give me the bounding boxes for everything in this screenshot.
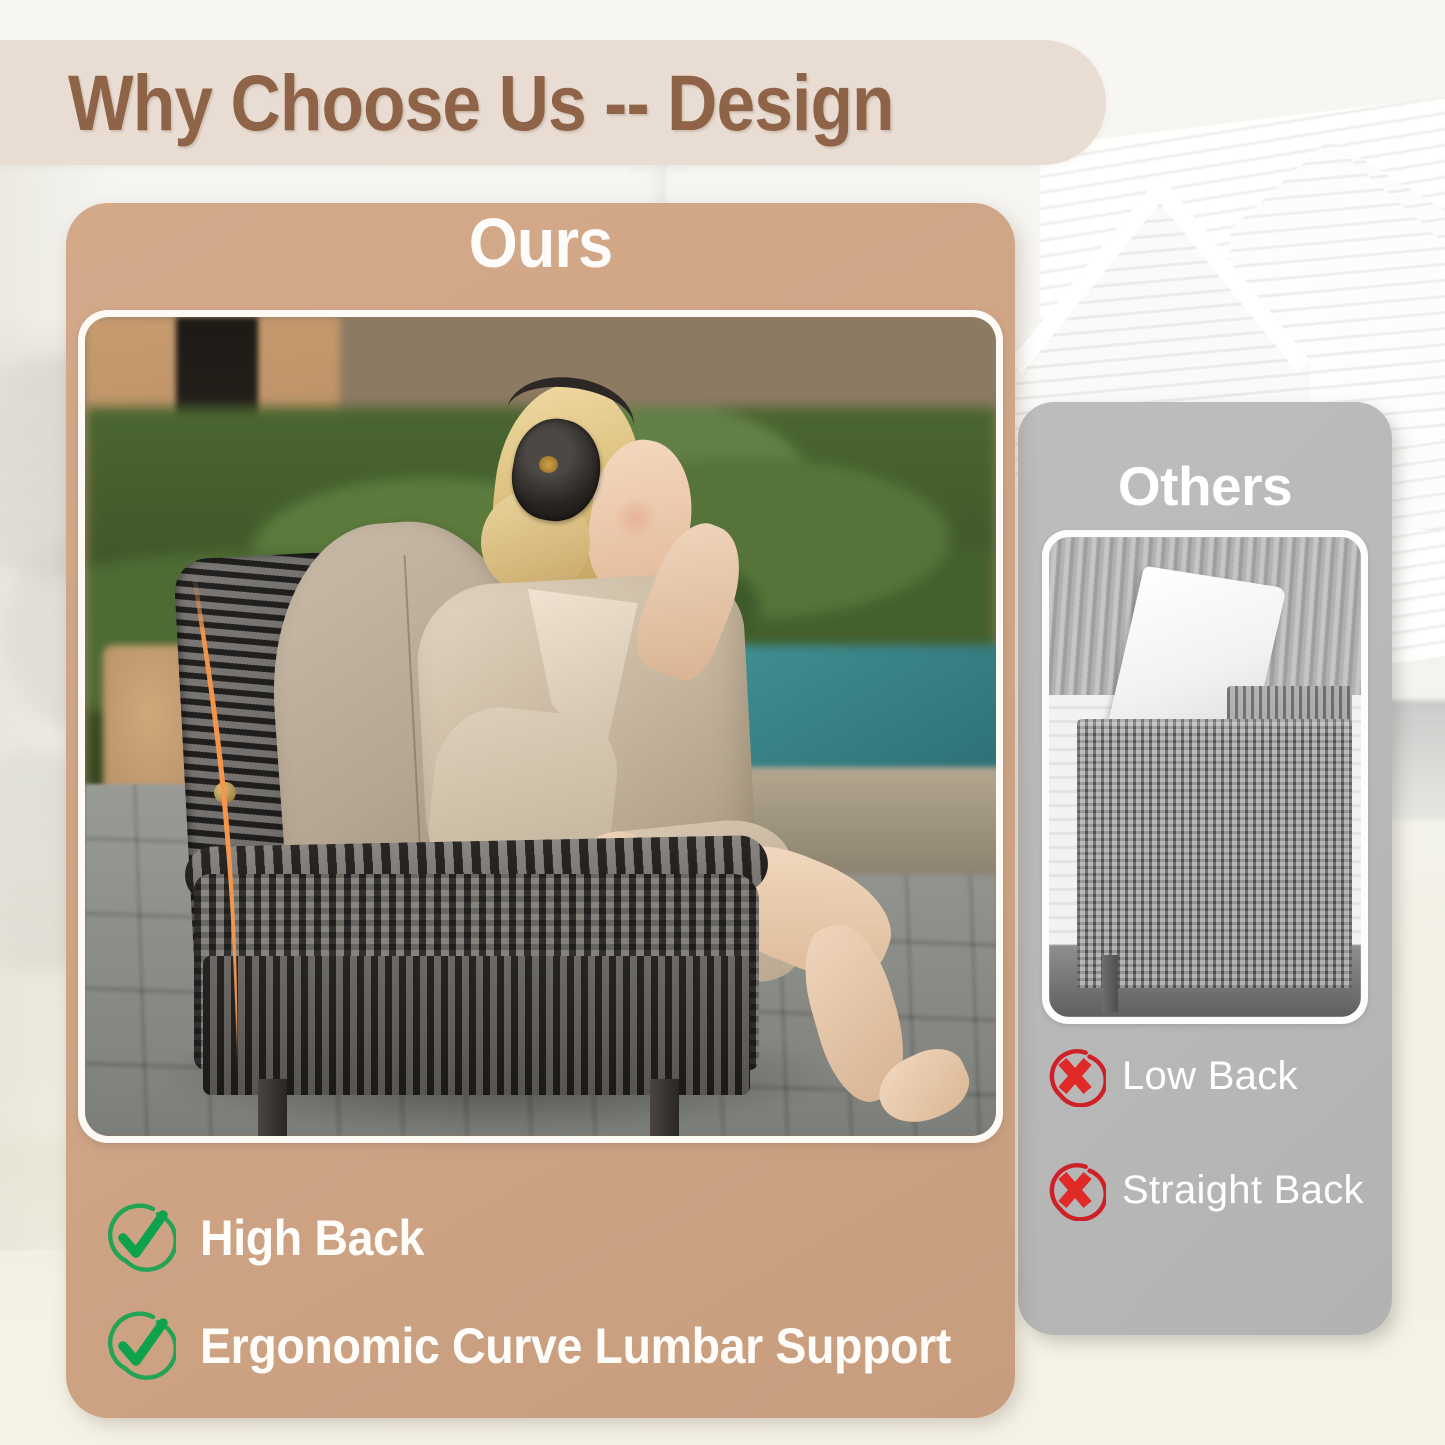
x-circle-icon bbox=[1044, 1045, 1106, 1107]
drawback-row-1: Low Back bbox=[1044, 1045, 1298, 1107]
header-banner: Why Choose Us -- Design bbox=[0, 40, 1106, 165]
ours-panel: Ours bbox=[66, 203, 1015, 1418]
feature-row-1: High Back bbox=[106, 1203, 441, 1273]
check-circle-icon bbox=[106, 1203, 176, 1273]
photo-sofa-front-panel bbox=[203, 956, 750, 1095]
others-panel-title: Others bbox=[1018, 454, 1392, 518]
photo-sofa-leg-left bbox=[258, 1079, 287, 1136]
photo-model-cheek bbox=[613, 497, 659, 538]
others-photo-sofa-leg bbox=[1102, 955, 1118, 1013]
others-photo-frame bbox=[1042, 530, 1368, 1024]
drawback-row-2: Straight Back bbox=[1044, 1159, 1364, 1221]
others-panel: Others Low Back Straight Back bbox=[1018, 402, 1392, 1335]
x-circle-icon bbox=[1044, 1159, 1106, 1221]
ours-product-photo bbox=[85, 317, 996, 1136]
others-photo-sofa-body bbox=[1077, 719, 1352, 988]
others-product-photo bbox=[1049, 537, 1361, 1017]
page-title: Why Choose Us -- Design bbox=[68, 63, 894, 142]
check-circle-icon bbox=[106, 1311, 176, 1381]
feature-label-1: High Back bbox=[200, 1209, 424, 1267]
ours-panel-title: Ours bbox=[113, 203, 967, 283]
photo-sofa-leg-right bbox=[650, 1079, 679, 1136]
drawback-label-1: Low Back bbox=[1122, 1054, 1298, 1099]
ours-photo-frame bbox=[78, 310, 1003, 1143]
feature-row-2: Ergonomic Curve Lumbar Support bbox=[106, 1311, 1008, 1381]
feature-label-2: Ergonomic Curve Lumbar Support bbox=[200, 1317, 951, 1375]
drawback-label-2: Straight Back bbox=[1122, 1168, 1364, 1213]
